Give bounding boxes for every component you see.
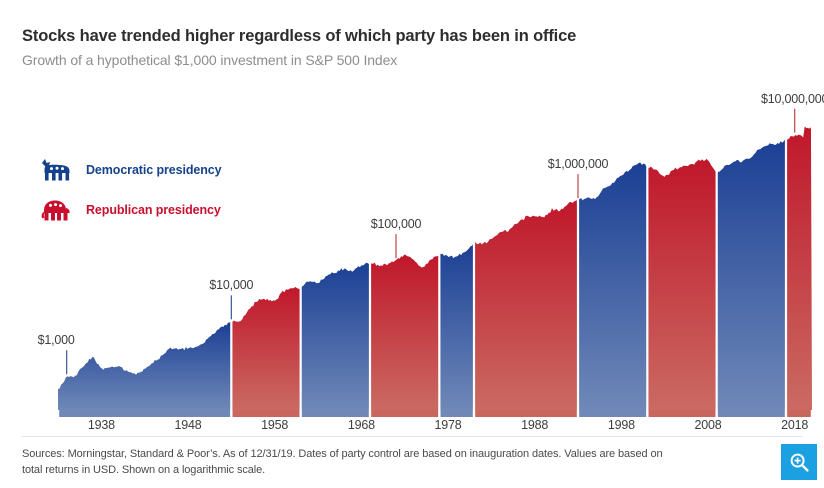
axis-party-strip-republican	[649, 410, 716, 417]
source-note-line-2: total returns in USD. Shown on a logarit…	[22, 463, 782, 479]
footer-divider	[22, 436, 802, 437]
party-band-republican-1981	[474, 200, 578, 410]
page-subtitle: Growth of a hypothetical $1,000 investme…	[22, 52, 802, 70]
axis-party-strip-democratic	[579, 410, 646, 417]
source-note: Sources: Morningstar, Standard & Poor’s.…	[22, 447, 782, 479]
elephant-icon	[38, 197, 72, 223]
axis-party-strip-republican	[475, 410, 577, 417]
legend-item-democratic: Democratic presidency	[38, 156, 221, 184]
axis-party-strip-democratic	[441, 410, 473, 417]
source-note-line-1: Sources: Morningstar, Standard & Poor’s.…	[22, 447, 782, 463]
party-band-republican-1969	[370, 255, 439, 410]
x-axis-tick-1938: 1938	[88, 418, 115, 432]
x-axis-labels: 193819481958196819781988199820082018	[0, 418, 824, 438]
party-band-democratic-2009	[717, 139, 786, 410]
value-callout-label: $10,000	[209, 278, 253, 292]
axis-party-strip-democratic	[718, 410, 785, 417]
x-axis-tick-2008: 2008	[694, 418, 721, 432]
legend-item-republican: Republican presidency	[38, 196, 221, 224]
x-axis-tick-1958: 1958	[261, 418, 288, 432]
party-band-democratic-1933	[58, 322, 231, 410]
legend-label-democratic: Democratic presidency	[86, 163, 221, 177]
x-axis-tick-1968: 1968	[348, 418, 375, 432]
value-callout-label: $100,000	[371, 217, 422, 231]
legend-label-republican: Republican presidency	[86, 203, 221, 217]
axis-party-strip-republican	[787, 410, 811, 417]
x-axis-tick-1988: 1988	[521, 418, 548, 432]
axis-party-strip-republican	[233, 410, 300, 417]
infographic-page: Stocks have trended higher regardless of…	[0, 0, 824, 488]
value-callout-label: $1,000,000	[548, 157, 609, 171]
chart-header: Stocks have trended higher regardless of…	[22, 26, 802, 69]
party-band-republican-2001	[647, 159, 716, 410]
page-title: Stocks have trended higher regardless of…	[22, 26, 802, 47]
donkey-icon	[38, 157, 72, 183]
party-band-democratic-1977	[439, 243, 474, 410]
party-band-democratic-1961	[301, 263, 370, 410]
zoom-in-icon	[789, 452, 810, 473]
value-callout-label: $1,000	[38, 333, 75, 347]
party-band-democratic-1993	[578, 163, 647, 410]
chart-legend: Democratic presidency	[38, 156, 221, 236]
chart-area	[0, 0, 824, 488]
zoom-in-button[interactable]	[781, 444, 817, 480]
x-axis-tick-1948: 1948	[174, 418, 201, 432]
axis-party-strip-republican	[371, 410, 438, 417]
axis-party-strip-democratic	[302, 410, 369, 417]
axis-party-strip-democratic	[59, 410, 230, 417]
party-band-republican-2017	[786, 126, 812, 410]
x-axis-tick-1998: 1998	[608, 418, 635, 432]
party-band-republican-1953	[231, 287, 300, 410]
value-callout-label: $10,000,000	[761, 92, 824, 106]
x-axis-tick-2018: 2018	[781, 418, 808, 432]
stock-growth-area-chart	[0, 0, 824, 488]
x-axis-tick-1978: 1978	[434, 418, 461, 432]
